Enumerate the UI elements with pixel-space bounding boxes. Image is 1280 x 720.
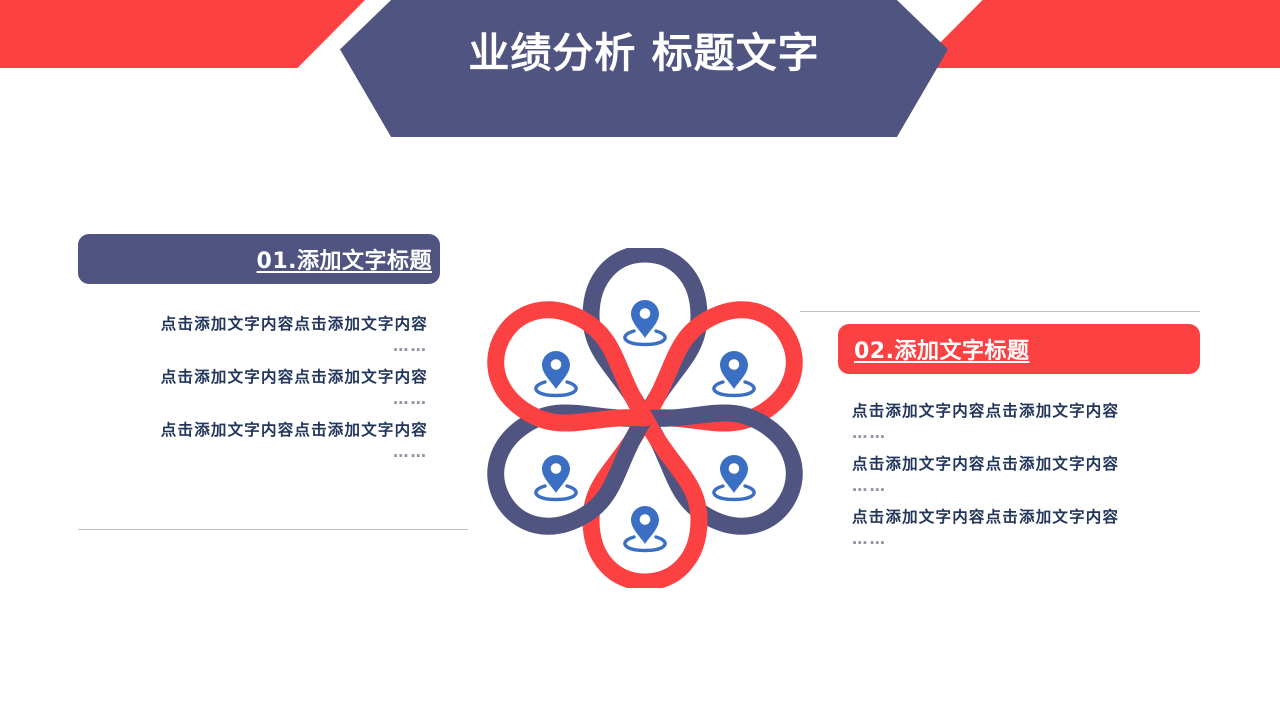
body-paragraph: 点击添加文字内容点击添加文字内容 …… (852, 453, 1200, 497)
body-paragraph: 点击添加文字内容点击添加文字内容 …… (852, 506, 1200, 550)
page-title: 业绩分析 标题文字 (340, 24, 948, 82)
location-pin-icon (536, 455, 576, 500)
flower-diagram (475, 248, 815, 588)
body-paragraph-text: 点击添加文字内容点击添加文字内容 (852, 455, 1119, 473)
header-ribbon-right (915, 0, 1280, 68)
body-paragraph-ellipsis: …… (852, 528, 1200, 550)
body-paragraph-text: 点击添加文字内容点击添加文字内容 (161, 421, 428, 439)
divider-line-right (800, 311, 1200, 312)
section-badge-02-label: 02.添加文字标题 (854, 333, 1029, 365)
title-hexagon-shape: 业绩分析 标题文字 (340, 0, 948, 137)
body-paragraph-text: 点击添加文字内容点击添加文字内容 (161, 315, 428, 333)
body-paragraph-ellipsis: …… (80, 388, 428, 410)
body-paragraph: 点击添加文字内容点击添加文字内容 …… (80, 366, 428, 410)
body-paragraph: 点击添加文字内容点击添加文字内容 …… (80, 313, 428, 357)
body-paragraph-ellipsis: …… (80, 335, 428, 357)
location-pin-icon (625, 300, 665, 345)
section-02-body: 点击添加文字内容点击添加文字内容 …… 点击添加文字内容点击添加文字内容 …… … (852, 400, 1200, 550)
header-banner: 业绩分析 标题文字 (0, 0, 1280, 145)
location-pin-icon (625, 506, 665, 551)
body-paragraph-ellipsis: …… (852, 475, 1200, 497)
body-paragraph-ellipsis: …… (80, 441, 428, 463)
location-pin-icon (714, 351, 754, 396)
section-badge-01-label: 01.添加文字标题 (257, 243, 432, 275)
section-badge-02[interactable]: 02.添加文字标题 (838, 324, 1200, 374)
body-paragraph-ellipsis: …… (852, 422, 1200, 444)
section-01-body: 点击添加文字内容点击添加文字内容 …… 点击添加文字内容点击添加文字内容 …… … (80, 313, 428, 463)
divider-line-left (78, 529, 468, 530)
header-ribbon-left (0, 0, 365, 68)
body-paragraph: 点击添加文字内容点击添加文字内容 …… (852, 400, 1200, 444)
body-paragraph-text: 点击添加文字内容点击添加文字内容 (161, 368, 428, 386)
body-paragraph-text: 点击添加文字内容点击添加文字内容 (852, 402, 1119, 420)
location-pin-icon (714, 455, 754, 500)
location-pin-icon (536, 351, 576, 396)
body-paragraph: 点击添加文字内容点击添加文字内容 …… (80, 419, 428, 463)
section-badge-01[interactable]: 01.添加文字标题 (78, 234, 440, 284)
body-paragraph-text: 点击添加文字内容点击添加文字内容 (852, 508, 1119, 526)
